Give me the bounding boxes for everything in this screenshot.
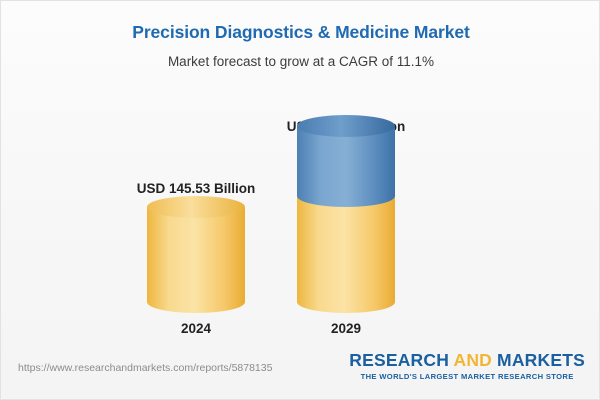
chart-figure: Precision Diagnostics & Medicine Market … [0,0,600,400]
logo-word-and: AND [453,350,492,370]
bar-cylinder-2024[interactable] [147,196,245,313]
chart-title: Precision Diagnostics & Medicine Market [1,22,600,43]
plot-area: USD 145.53 Billion [1,81,600,336]
chart-footer: https://www.researchandmarkets.com/repor… [1,344,600,399]
logo-word-research: RESEARCH [349,350,453,370]
logo-wordmark: RESEARCH AND MARKETS [349,350,585,371]
category-label-2024: 2024 [116,321,276,336]
research-and-markets-logo: RESEARCH AND MARKETS THE WORLD'S LARGEST… [349,350,585,381]
chart-subtitle: Market forecast to grow at a CAGR of 11.… [1,54,600,69]
source-url[interactable]: https://www.researchandmarkets.com/repor… [18,362,272,374]
category-label-2029: 2029 [266,321,426,336]
bar-value-label-2024: USD 145.53 Billion [116,181,276,196]
cylinder-shape-yellow [147,196,245,313]
logo-word-markets: MARKETS [492,350,585,370]
logo-tagline: THE WORLD'S LARGEST MARKET RESEARCH STOR… [349,372,585,381]
bar-cylinder-2029[interactable] [297,115,395,313]
cylinder-shape-blue-yellow [297,115,395,313]
